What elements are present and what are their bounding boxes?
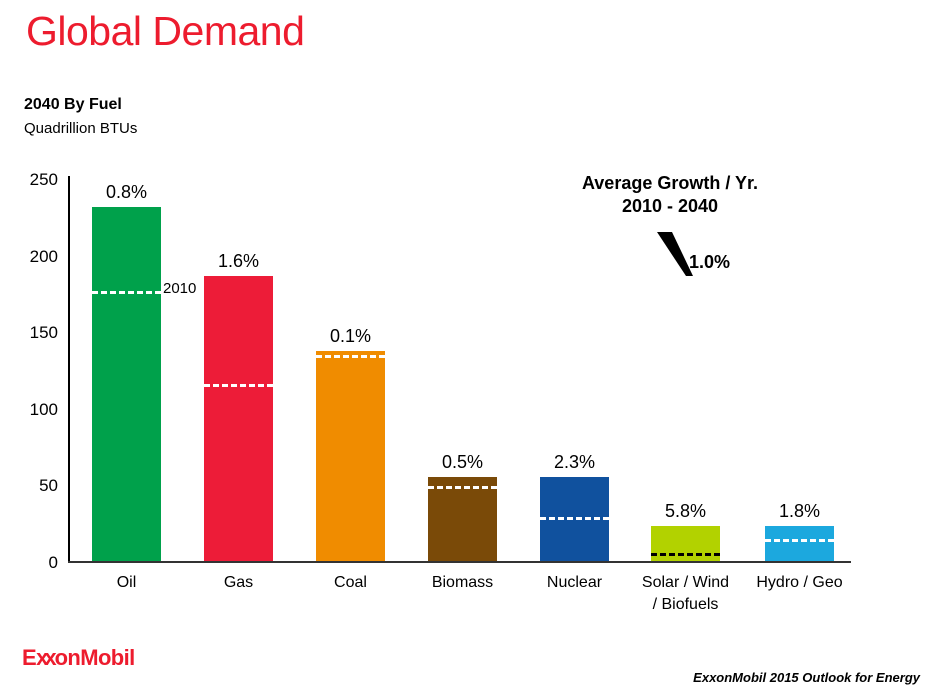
bar-oil[interactable] — [92, 207, 161, 561]
baseline-year-label: 2010 — [163, 280, 196, 297]
baseline-marker-nuclear — [540, 517, 609, 520]
growth-label-oil: 0.8% — [92, 182, 161, 203]
category-label-solar-wind-biofuels-line2: / Biofuels — [626, 595, 745, 614]
bar-biomass[interactable] — [428, 477, 497, 561]
logo-interlocking-xx: xx — [36, 645, 52, 670]
baseline-marker-solar-wind-biofuels — [651, 553, 720, 556]
growth-label-solar-wind-biofuels: 5.8% — [651, 501, 720, 522]
y-tick-50: 50 — [14, 477, 58, 494]
growth-annotation-line1: Average Growth / Yr. — [582, 173, 758, 193]
y-tick-200: 200 — [14, 248, 58, 265]
baseline-marker-coal — [316, 355, 385, 358]
exxonmobil-logo: ExxonMobil — [22, 645, 135, 671]
logo-prefix: E — [22, 645, 36, 670]
y-tick-100: 100 — [14, 401, 58, 418]
category-label-oil: Oil — [82, 573, 171, 592]
y-tick-0: 0 — [14, 554, 58, 571]
category-label-nuclear: Nuclear — [530, 573, 619, 592]
source-note: ExxonMobil 2015 Outlook for Energy — [693, 670, 920, 685]
baseline-marker-gas — [204, 384, 273, 387]
category-label-gas: Gas — [194, 573, 283, 592]
growth-annotation-line2: 2010 - 2040 — [622, 196, 718, 216]
category-label-coal: Coal — [306, 573, 395, 592]
logo-suffix: onMobil — [55, 645, 135, 670]
baseline-marker-hydro-geo — [765, 539, 834, 542]
baseline-marker-biomass — [428, 486, 497, 489]
growth-label-hydro-geo: 1.8% — [765, 501, 834, 522]
y-tick-250: 250 — [14, 171, 58, 188]
bar-coal[interactable] — [316, 351, 385, 561]
y-tick-150: 150 — [14, 324, 58, 341]
growth-callout-value: 1.0% — [689, 252, 730, 273]
bar-gas[interactable] — [204, 276, 273, 561]
category-label-biomass: Biomass — [418, 573, 507, 592]
baseline-marker-oil — [92, 291, 161, 294]
growth-annotation-title: Average Growth / Yr. 2010 - 2040 — [552, 172, 788, 218]
growth-label-coal: 0.1% — [316, 326, 385, 347]
slide-canvas: Global Demand 2040 By Fuel Quadrillion B… — [0, 0, 930, 693]
category-label-solar-wind-biofuels-line1: Solar / Wind — [626, 573, 745, 592]
category-label-hydro-geo: Hydro / Geo — [742, 573, 857, 592]
growth-label-nuclear: 2.3% — [540, 452, 609, 473]
growth-label-gas: 1.6% — [204, 251, 273, 272]
growth-label-biomass: 0.5% — [428, 452, 497, 473]
x-axis-line — [68, 561, 851, 563]
bar-chart: 250 200 150 100 50 0 0.8% Oil 1.6% Gas 0… — [0, 0, 930, 693]
bar-hydro-geo[interactable] — [765, 526, 834, 561]
y-axis-line — [68, 176, 70, 563]
